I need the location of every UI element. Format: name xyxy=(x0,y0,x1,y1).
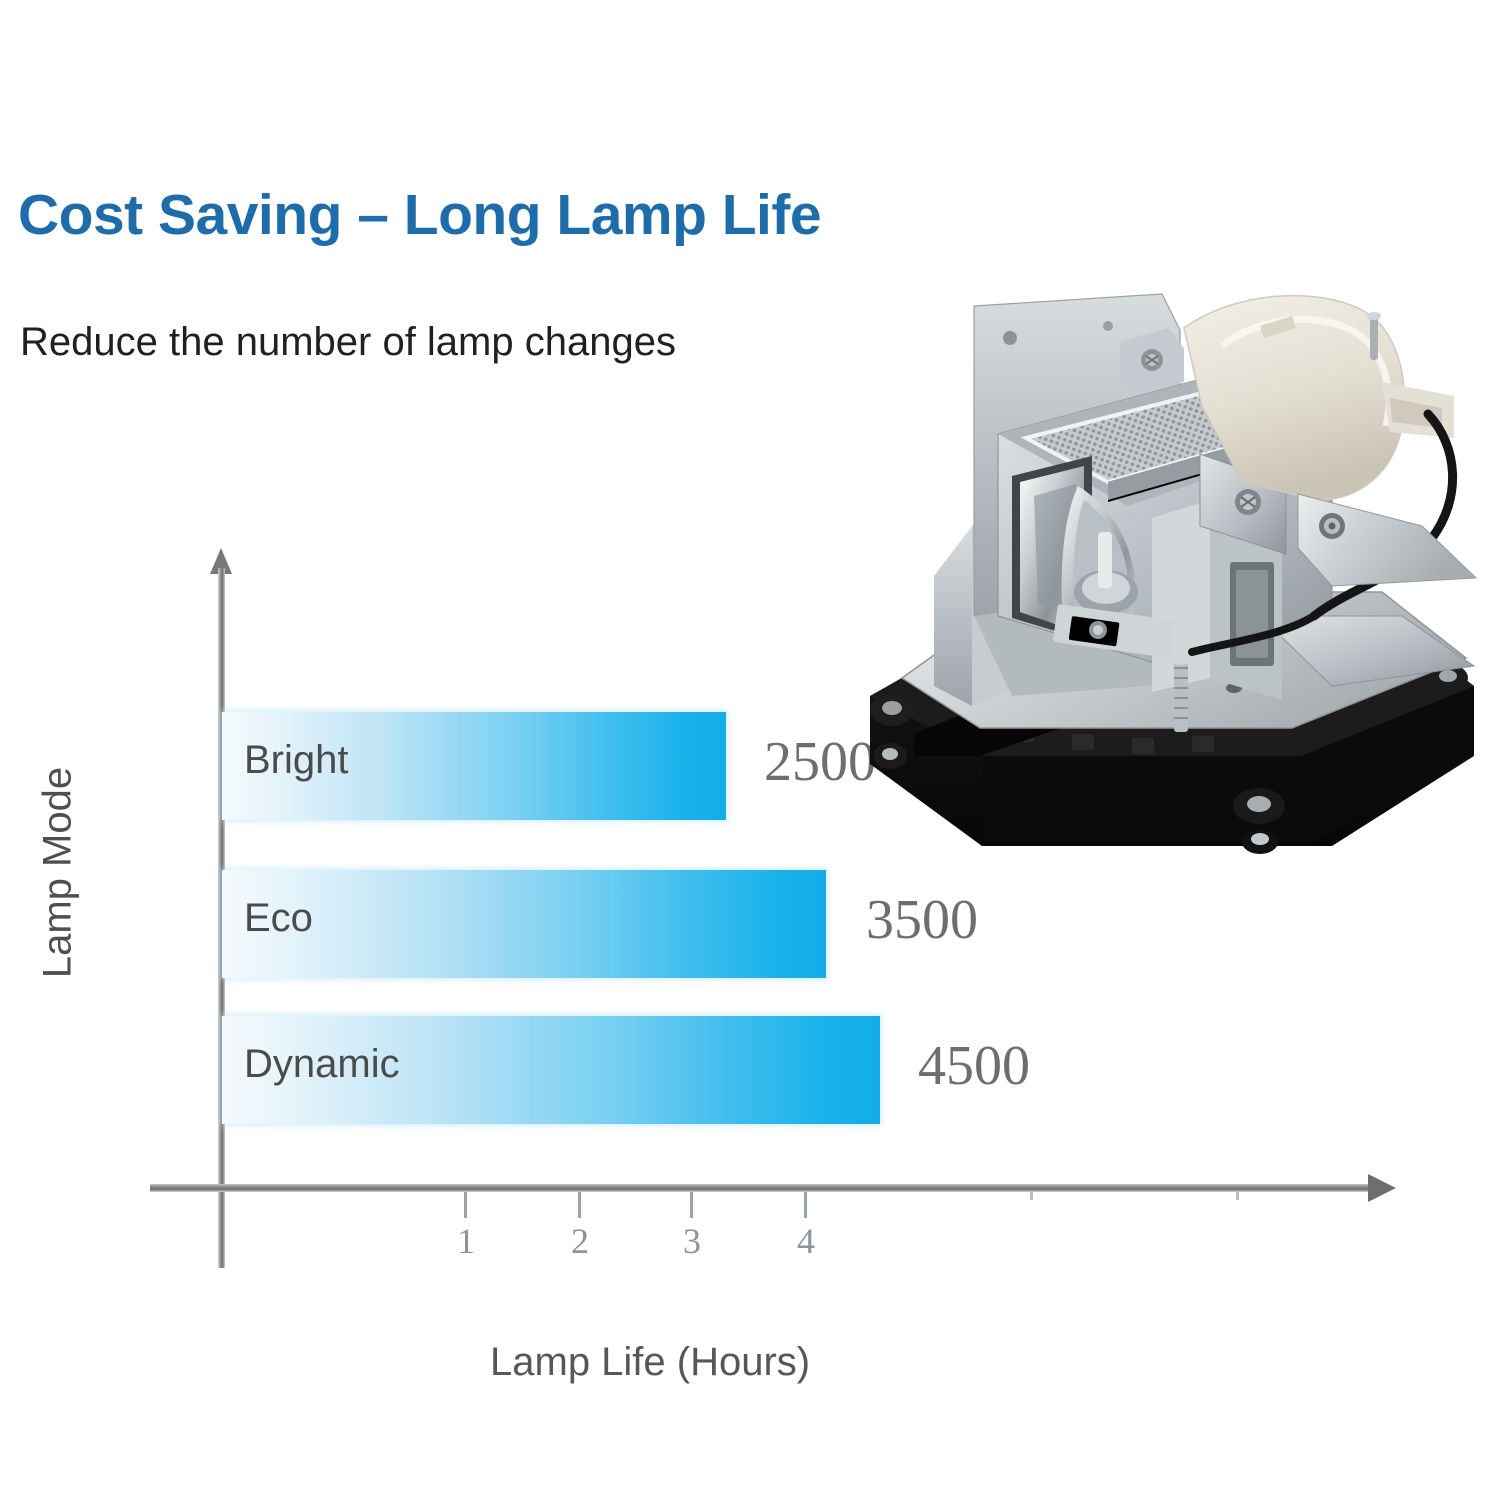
lamp-adjust-screw xyxy=(1172,655,1190,732)
bar-value-dynamic: 4500 xyxy=(918,1034,1030,1098)
page-subtitle: Reduce the number of lamp changes xyxy=(20,320,676,365)
bar-label-bright: Bright xyxy=(244,738,349,783)
x-tick-3 xyxy=(690,1192,693,1218)
bar-value-eco: 3500 xyxy=(866,888,978,952)
x-tick-1 xyxy=(464,1192,467,1218)
x-axis-arrow-icon xyxy=(1368,1174,1396,1202)
x-tick-minor-6 xyxy=(1236,1192,1239,1200)
bar-label-dynamic: Dynamic xyxy=(244,1042,400,1087)
page-root: Cost Saving – Long Lamp Life Reduce the … xyxy=(0,0,1500,1500)
projector-lamp-photo xyxy=(862,286,1482,856)
x-axis-title: Lamp Life (Hours) xyxy=(490,1340,810,1385)
y-axis-title: Lamp Mode xyxy=(36,743,81,1003)
x-tick-label-2: 2 xyxy=(571,1220,589,1262)
x-tick-2 xyxy=(578,1192,581,1218)
page-title: Cost Saving – Long Lamp Life xyxy=(18,182,821,248)
bar-label-eco: Eco xyxy=(244,896,313,941)
x-tick-minor-5 xyxy=(1030,1192,1033,1200)
x-tick-label-4: 4 xyxy=(797,1220,815,1262)
x-tick-label-3: 3 xyxy=(683,1220,701,1262)
x-axis-line xyxy=(150,1184,1382,1192)
x-tick-4 xyxy=(804,1192,807,1218)
bar-value-bright: 2500 xyxy=(764,730,876,794)
x-tick-label-1: 1 xyxy=(457,1220,475,1262)
